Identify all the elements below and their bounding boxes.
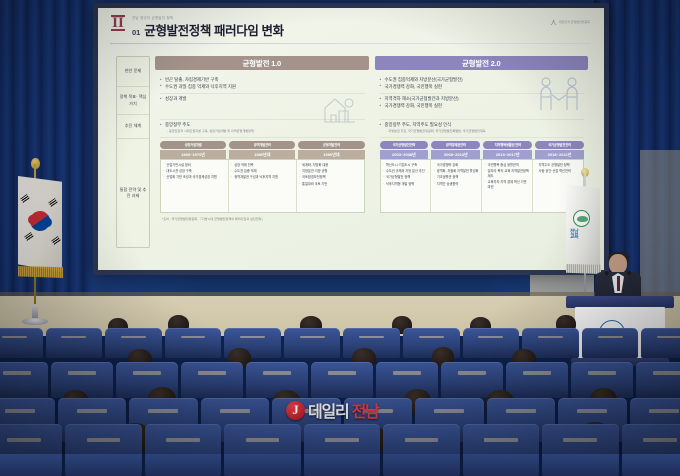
timeline-year: 2018~2022년 bbox=[535, 150, 584, 159]
logo-text: 대한민국 균형발전위원회 bbox=[559, 21, 590, 24]
header-divider bbox=[110, 43, 590, 44]
comparison-table: 현안 문제 정책 목표· 핵심 가치 추진 체계 통합 전략 및 추진 과제 균… bbox=[116, 56, 588, 248]
timeline-1-detail-cells: 산업기반시설 정비 대도시권 성장 구축 산업화 기반 조성과 국가경제성장 지… bbox=[160, 159, 365, 213]
timeline-pill: 지역행복생활권 전략 bbox=[483, 141, 532, 149]
seat bbox=[582, 328, 639, 358]
row-label-current-issues: 현안 문제 bbox=[117, 57, 149, 87]
timeline-pill: 광역경제권전략 bbox=[431, 141, 480, 149]
timeline-item: 성장 억제 전략 bbox=[231, 163, 294, 168]
timeline-1-year-bars: 1960~1970년 1980년대 1990년대 bbox=[160, 150, 365, 159]
timeline-item: 지역간 상생협력 bbox=[433, 182, 479, 187]
column-balanced-development-2: 균형발전 2.0 수도권 집중억제와 지방분산(국가균형발전) 국가경쟁력 강화… bbox=[375, 56, 589, 248]
seat bbox=[0, 328, 43, 358]
timeline-1-strategy-pills: 성장거점개발 광역개발전략 균형개발전략 bbox=[160, 141, 365, 149]
timeline-pill: 국가균형발전전략 bbox=[380, 141, 429, 149]
timeline-2: 국가균형발전전략 광역경제권전략 지역행복생활권 전략 국가균형발전전략 200… bbox=[380, 141, 585, 214]
seat bbox=[65, 424, 141, 476]
timeline-pill: 성장거점개발 bbox=[160, 141, 226, 149]
slide-kicker: 전남 청년이 균형발전 정책 bbox=[132, 13, 590, 20]
block-governance-2: 중앙정부 주도, 지역주도 필요성 인식 지방분권 추진, 국가균형발전위원회,… bbox=[380, 120, 585, 137]
column-balanced-development-1: 균형발전 1.0 빈곤 탈출, 자립경제기반 구축 수도권 과밀·집중 억제와 … bbox=[155, 56, 369, 248]
bullet: 국가경쟁력 강화, 국민행복 실현 bbox=[380, 103, 585, 110]
column-2-header: 균형발전 2.0 bbox=[375, 56, 589, 70]
timeline-item: 국민행복 중심 생활권역 bbox=[484, 163, 530, 168]
watermark: 데일리 전남 bbox=[286, 398, 379, 422]
seat bbox=[181, 362, 243, 398]
timeline-cell: 국가경쟁력 강화 광역화, 자율화 지역발전 활성화 기초생활권 정책 지역간 … bbox=[431, 160, 482, 212]
flag-fringe bbox=[18, 266, 63, 278]
seat bbox=[463, 424, 539, 476]
timeline-year: 1960~1970년 bbox=[160, 150, 226, 159]
page-title: 균형발전정책 패러다임 변화 bbox=[144, 20, 283, 39]
timeline-year: 1980년대 bbox=[229, 150, 295, 159]
timeline-cell: 산업기반시설 정비 대도시권 성장 구축 산업화 기반 조성과 국가경제성장 지… bbox=[161, 160, 229, 212]
slide-title-number: 01 bbox=[132, 28, 140, 37]
seat bbox=[0, 362, 48, 398]
seat bbox=[311, 362, 373, 398]
timeline-cell: 세계화, 지방화 대응 지방분권·지방 균형 국토환경보전정책 통일대비 국토 … bbox=[297, 160, 364, 212]
seat-row bbox=[0, 328, 680, 358]
flag-emblem-text: 전남교육 bbox=[570, 230, 578, 241]
slide-header: II 전남 청년이 균형발전 정책 01 균형발전정책 패러다임 변화 ⋏ 대한… bbox=[98, 8, 604, 46]
source-note: *출처 : 국가균형발전위원회, 「지방시대 균형발전정책의 패러다임과 실천전… bbox=[160, 216, 365, 221]
projection-screen: II 전남 청년이 균형발전 정책 01 균형발전정책 패러다임 변화 ⋏ 대한… bbox=[93, 3, 609, 275]
timeline-cell: 혁신도시·기업도시 구축 수도권 규제와 지방 분산 추진 국가균형발전 정책 … bbox=[381, 160, 432, 212]
seat bbox=[506, 362, 568, 398]
seat bbox=[641, 328, 680, 358]
row-label-strategy-tasks: 통합 전략 및 추진 과제 bbox=[117, 139, 149, 247]
timeline-item: 낙후지역형 개발 정책 bbox=[383, 182, 429, 187]
seat bbox=[304, 424, 380, 476]
column-2-body: 수도권 집중억제와 지방분산(국가균형발전) 국가경쟁력 강화, 국민행복 실현 bbox=[375, 70, 589, 248]
block-issues-2: 수도권 집중억제와 지방분산(국가균형발전) 국가경쟁력 강화, 국민행복 실현 bbox=[380, 75, 585, 94]
seat bbox=[46, 328, 103, 358]
microphone-icon bbox=[628, 274, 633, 298]
timeline-item: 세계화, 지방화 대응 bbox=[299, 163, 362, 168]
timeline-pill: 국가균형발전전략 bbox=[535, 141, 584, 149]
timeline-1: 성장거점개발 광역개발전략 균형개발전략 1960~1970년 1980년대 1… bbox=[160, 141, 365, 222]
timeline-item: 지방분권·지방 균형 bbox=[299, 169, 362, 174]
timeline-year: 2003~2008년 bbox=[380, 150, 429, 159]
seat bbox=[145, 424, 221, 476]
microphone-icon bbox=[602, 274, 607, 298]
timeline-2-strategy-pills: 국가균형발전전략 광역경제권전략 지역행복생활권 전략 국가균형발전전략 bbox=[380, 141, 585, 149]
logo-glyph-icon: ⋏ bbox=[550, 18, 557, 27]
seat bbox=[383, 424, 459, 476]
seat bbox=[542, 424, 618, 476]
column-1-body: 빈곤 탈출, 자립경제기반 구축 수도권 과밀·집중 억제와 낙후지역 지원 성… bbox=[155, 70, 369, 248]
timeline-item: 일자리·복지·교육 지역발전정책 제도 bbox=[484, 169, 530, 179]
column-1-header: 균형발전 1.0 bbox=[155, 56, 369, 70]
timeline-pill: 광역개발전략 bbox=[229, 141, 295, 149]
timeline-2-year-bars: 2003~2008년 2008~2013년 2013~2017년 2018~20… bbox=[380, 150, 585, 159]
timeline-item: 국가경쟁력 강화 bbox=[433, 163, 479, 168]
korean-national-flag bbox=[8, 158, 64, 333]
block-goals-2: 지역격차 해소(국가균형발전과 지방분산) 국가경쟁력 강화, 국민행복 실현 bbox=[380, 94, 585, 120]
row-label-policy-goals: 정책 목표· 핵심 가치 bbox=[117, 87, 149, 115]
timeline-item: 교육자치·지역 경제 혁신 기반 마련 bbox=[484, 180, 530, 190]
seat bbox=[463, 328, 520, 358]
slide-title-row: 01 균형발전정책 패러다임 변화 bbox=[132, 20, 590, 39]
seat bbox=[224, 424, 300, 476]
seat bbox=[622, 424, 680, 476]
timeline-item: 지역주도 균형발전 정책 bbox=[535, 163, 581, 168]
bullet: 지역격차 해소(국가균형발전과 지방분산) bbox=[380, 96, 585, 103]
timeline-item: 통일대비 국토 기반 bbox=[299, 182, 362, 187]
audience-seating bbox=[0, 314, 680, 454]
bullet: 빈곤 탈출, 자립경제기반 구축 bbox=[160, 77, 365, 84]
organization-logo: ⋏ 대한민국 균형발전위원회 bbox=[550, 18, 590, 27]
presentation-slide: II 전남 청년이 균형발전 정책 01 균형발전정책 패러다임 변화 ⋏ 대한… bbox=[98, 8, 604, 270]
timeline-year: 2008~2013년 bbox=[431, 150, 480, 159]
row-label-column: 현안 문제 정책 목표· 핵심 가치 추진 체계 통합 전략 및 추진 과제 bbox=[116, 56, 150, 248]
bullet: 중앙정부 주도 bbox=[160, 122, 365, 129]
bullet: 중앙정부 주도, 지역주도 필요성 인식 bbox=[380, 122, 585, 129]
timeline-item: 광역화, 자율화 지역발전 활성화 bbox=[433, 169, 479, 174]
seat bbox=[0, 424, 62, 476]
organization-emblem-icon bbox=[573, 210, 590, 227]
bullet: 수도권 과밀·집중 억제와 낙후지역 지원 bbox=[160, 84, 365, 91]
seat-row bbox=[0, 424, 680, 476]
timeline-year: 2013~2017년 bbox=[483, 150, 532, 159]
timeline-item: 국토환경보전정책 bbox=[299, 175, 362, 180]
timeline-item: 산업기반시설 정비 bbox=[163, 163, 226, 168]
timeline-item: 수도권 집중 억제 bbox=[231, 169, 294, 174]
comparison-columns: 균형발전 1.0 빈곤 탈출, 자립경제기반 구축 수도권 과밀·집중 억제와 … bbox=[155, 56, 588, 248]
timeline-item: 산업화 기반 조성과 국가경제성장 지원 bbox=[163, 175, 226, 180]
timeline-cell: 성장 억제 전략 수도권 집중 억제 광역개발권 구성과 낙후지역 지원 bbox=[229, 160, 297, 212]
section-numeral: II bbox=[110, 14, 126, 32]
timeline-item: 광역개발권 구성과 낙후지역 지원 bbox=[231, 175, 294, 180]
timeline-item: 대도시권 성장 구축 bbox=[163, 169, 226, 174]
watermark-text-white: 데일리 bbox=[308, 398, 349, 422]
sub-note: 중앙집권적 사회간접자본 구축, 성장거점개발 및 지역균형개발정책 bbox=[160, 129, 365, 133]
timeline-year: 1990년대 bbox=[298, 150, 364, 159]
block-governance-1: 중앙정부 주도 중앙집권적 사회간접자본 구축, 성장거점개발 및 지역균형개발… bbox=[160, 120, 365, 137]
timeline-item: 수도권 규제와 지방 분산 추진 bbox=[383, 169, 429, 174]
timeline-2-detail-cells: 혁신도시·기업도시 구축 수도권 규제와 지방 분산 추진 국가균형발전 정책 … bbox=[380, 159, 585, 213]
timeline-cell: 국민행복 중심 생활권역 일자리·복지·교육 지역발전정책 제도 교육자치·지역… bbox=[482, 160, 533, 212]
seat bbox=[636, 362, 680, 398]
timeline-item: 기초생활권 정책 bbox=[433, 175, 479, 180]
timeline-item: 국가균형발전 정책 bbox=[383, 175, 429, 180]
sub-note: 지방분권 추진, 국가균형발전위원회, 국가균형발전특별법, 국가균형발전계획 bbox=[380, 129, 585, 133]
timeline-pill: 균형개발전략 bbox=[298, 141, 364, 149]
row-label-governance: 추진 체계 bbox=[117, 115, 149, 139]
watermark-text-red: 전남 bbox=[352, 398, 379, 422]
seat bbox=[165, 328, 222, 358]
seat bbox=[284, 328, 341, 358]
timeline-item: 혁신도시·기업도시 구축 bbox=[383, 163, 429, 168]
watermark-logo-icon bbox=[286, 401, 305, 420]
seat-row bbox=[0, 362, 680, 398]
block-goals-1: 성장과 개발 bbox=[160, 94, 365, 120]
